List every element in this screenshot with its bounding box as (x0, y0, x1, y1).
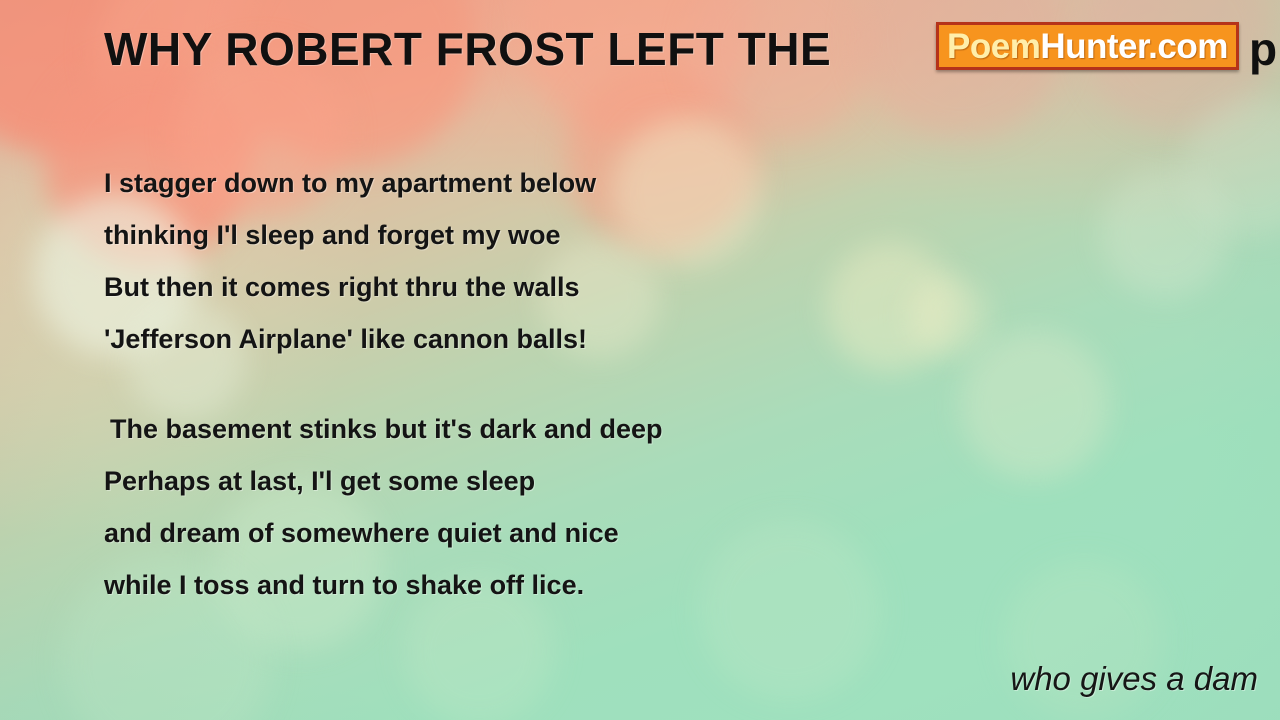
footer-note: who gives a dam (1010, 660, 1258, 698)
poem-line: I stagger down to my apartment below (104, 157, 864, 209)
poem-line: The basement stinks but it's dark and de… (104, 403, 864, 455)
poem-line: 'Jefferson Airplane' like cannon balls! (104, 313, 864, 365)
poem-line: thinking I'l sleep and forget my woe (104, 209, 864, 261)
poem-line: But then it comes right thru the walls (104, 261, 864, 313)
page-title-obscured-tail: p (1249, 22, 1280, 76)
poem-image-card: WHY ROBERT FROST LEFT THE p PoemHunter.c… (0, 0, 1280, 720)
poem-body: I stagger down to my apartment belowthin… (104, 157, 864, 611)
poem-line: while I toss and turn to shake off lice. (104, 559, 864, 611)
logo-text-hunter: Hunter.com (1040, 27, 1228, 66)
logo-text-poem: Poem (947, 27, 1040, 66)
page-title: WHY ROBERT FROST LEFT THE (104, 22, 831, 76)
poemhunter-logo-badge[interactable]: PoemHunter.com (936, 22, 1239, 70)
poem-stanza: I stagger down to my apartment belowthin… (104, 157, 864, 365)
poem-stanza: The basement stinks but it's dark and de… (104, 403, 864, 611)
poem-line: and dream of somewhere quiet and nice (104, 507, 864, 559)
poem-line: Perhaps at last, I'l get some sleep (104, 455, 864, 507)
